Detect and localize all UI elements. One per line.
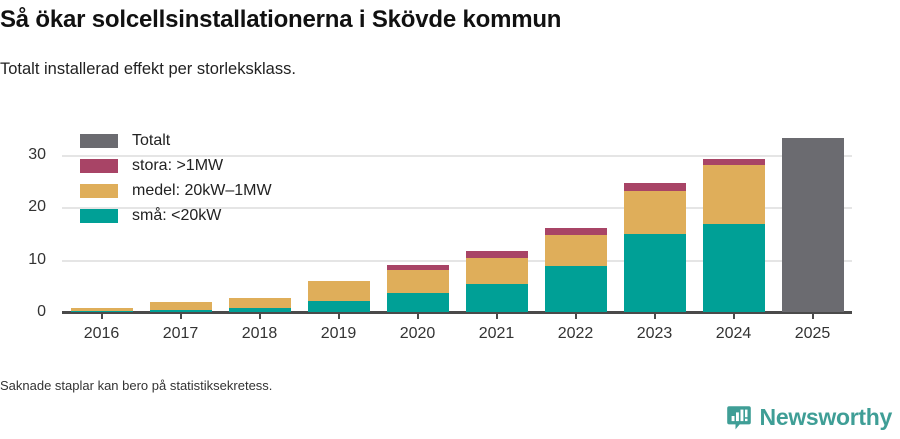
y-axis-tick-label: 30 [6,146,46,164]
legend-item-3[interactable]: små: <20kW [80,203,272,228]
bar-segment-medel[interactable] [624,191,686,234]
bar-group-2018[interactable] [229,298,291,312]
chart-footnote: Saknade staplar kan bero på statistiksek… [0,378,272,393]
bar-segment-sma[interactable] [466,284,528,312]
bar-segment-medel[interactable] [703,165,765,224]
bar-segment-medel[interactable] [466,258,528,284]
y-axis-tick-label: 0 [6,303,46,321]
x-axis-label-2020: 2020 [400,325,436,343]
x-axis-tick [101,312,103,319]
legend-swatch-icon [80,184,118,198]
bar-segment-sma[interactable] [545,266,607,312]
bar-segment-stora[interactable] [624,183,686,191]
x-axis-tick [496,312,498,319]
x-axis-label-2017: 2017 [163,325,199,343]
x-axis-tick [417,312,419,319]
legend-label: Totalt [132,132,170,150]
bar-segment-medel[interactable] [308,281,370,301]
x-axis-label-2024: 2024 [716,325,752,343]
bar-segment-medel[interactable] [545,235,607,266]
newsworthy-logo: Newsworthy [726,404,892,431]
x-axis-label-2018: 2018 [242,325,278,343]
bar-segment-stora[interactable] [545,228,607,235]
legend-swatch-icon [80,159,118,173]
bar-segment-medel[interactable] [150,302,212,311]
bar-segment-medel[interactable] [387,270,449,293]
legend-item-2[interactable]: medel: 20kW–1MW [80,178,272,203]
y-axis-tick-label: 10 [6,251,46,269]
x-axis-tick [812,312,814,319]
x-axis-label-2023: 2023 [637,325,673,343]
x-axis-tick [654,312,656,319]
legend-swatch-icon [80,209,118,223]
bar-segment-totalt[interactable] [782,138,844,312]
bar-segment-sma[interactable] [703,224,765,312]
x-axis-label-2019: 2019 [321,325,357,343]
bar-group-2024[interactable] [703,159,765,312]
x-axis-label-2022: 2022 [558,325,594,343]
chart-legend: Totaltstora: >1MWmedel: 20kW–1MWsmå: <20… [80,128,272,228]
bar-group-2020[interactable] [387,265,449,312]
legend-label: små: <20kW [132,207,221,225]
x-axis-tick [575,312,577,319]
bar-chart-bubble-icon [726,405,752,431]
bar-segment-sma[interactable] [308,301,370,312]
x-axis-tick [733,312,735,319]
x-axis-tick [180,312,182,319]
legend-item-1[interactable]: stora: >1MW [80,153,272,178]
bar-group-2017[interactable] [150,302,212,312]
bar-segment-medel[interactable] [229,298,291,307]
x-axis-label-2016: 2016 [84,325,120,343]
x-axis-tick [338,312,340,319]
page-title: Så ökar solcellsinstallationerna i Skövd… [0,6,561,34]
bar-group-2022[interactable] [545,228,607,312]
bar-group-2019[interactable] [308,281,370,312]
bar-group-2021[interactable] [466,251,528,312]
legend-label: stora: >1MW [132,157,223,175]
y-axis-tick-label: 20 [6,198,46,216]
legend-item-0[interactable]: Totalt [80,128,272,153]
bar-group-2023[interactable] [624,183,686,312]
x-axis-label-2021: 2021 [479,325,515,343]
x-axis-label-2025: 2025 [795,325,831,343]
bar-group-2025[interactable] [782,138,844,312]
chart-subtitle: Totalt installerad effekt per storlekskl… [0,60,296,79]
legend-swatch-icon [80,134,118,148]
bar-segment-sma[interactable] [624,234,686,312]
brand-name: Newsworthy [760,404,892,431]
x-axis-tick [259,312,261,319]
legend-label: medel: 20kW–1MW [132,182,272,200]
bar-segment-sma[interactable] [387,293,449,312]
